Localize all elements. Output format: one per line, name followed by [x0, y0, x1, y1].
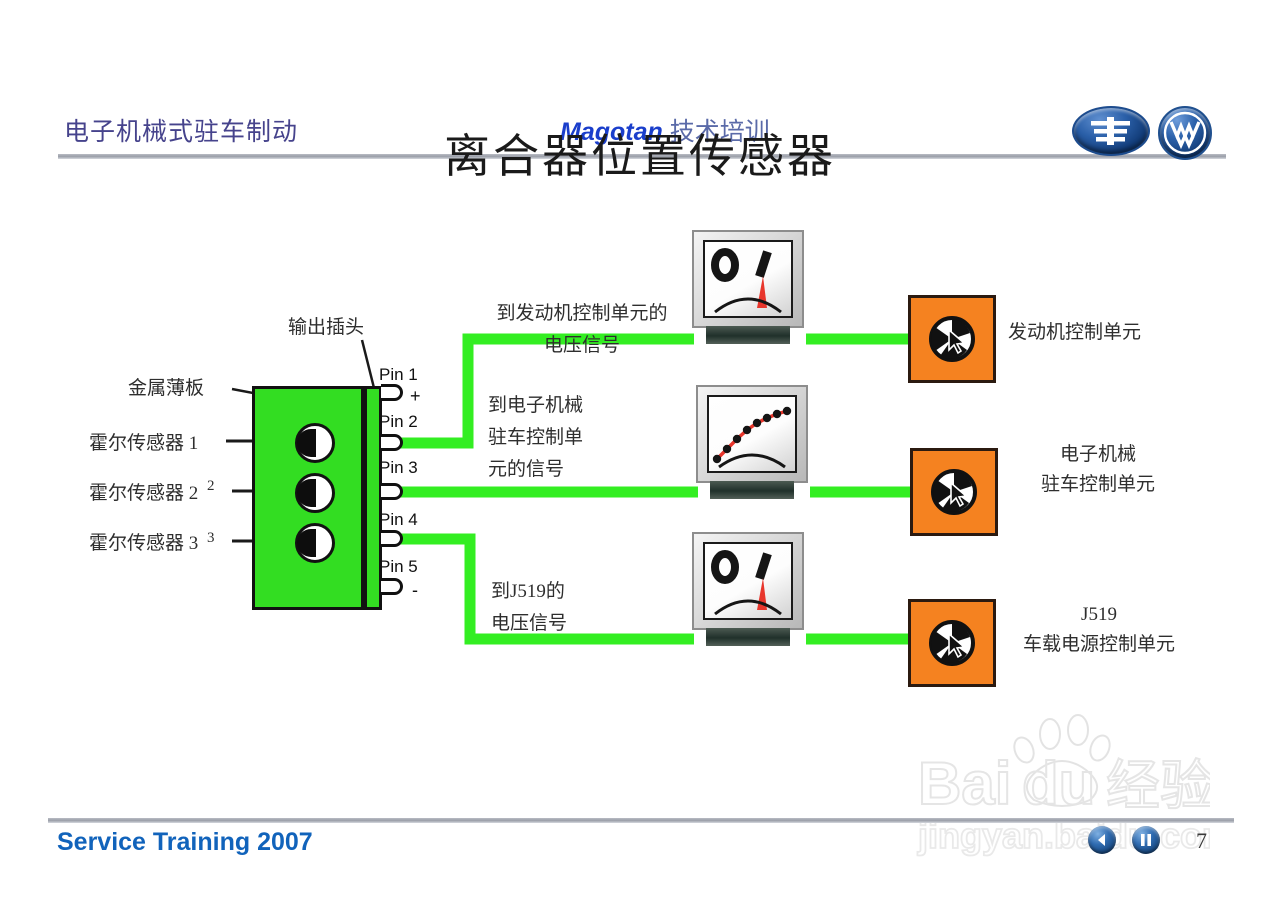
- slide-canvas: 电子机械式驻车制动 Magotan技术培训: [0, 0, 1280, 906]
- j519-control-unit-box: [908, 599, 996, 687]
- j519-control-unit-label-line-1: J519: [1006, 600, 1192, 630]
- hall-sensor-1-dot: [295, 423, 335, 463]
- signal-caption-2-line-2: 驻车控制单: [488, 422, 583, 454]
- pin-5-connector: [381, 578, 403, 595]
- meter-screen: [703, 240, 793, 318]
- signal-caption-1-line-2: 电压信号: [492, 330, 672, 362]
- signal-caption-3-line-2: 电压信号: [491, 608, 567, 640]
- pin-1-label: Pin 1: [379, 365, 418, 385]
- engine-control-unit-box: [908, 295, 996, 383]
- pin-1-sign: +: [410, 386, 421, 407]
- signal-caption-3: 到J519的 电压信号: [491, 576, 567, 640]
- pin-4-connector: [381, 530, 403, 547]
- control-unit-icon: [927, 618, 977, 668]
- nav-prev-button[interactable]: [1088, 826, 1116, 854]
- meter-screen: [707, 395, 797, 473]
- hall-sensor-3-label: 霍尔传感器 3: [89, 528, 198, 555]
- engine-control-unit-label: 发动机控制单元: [1008, 318, 1141, 348]
- meter-needle-zero-1: [692, 230, 804, 334]
- watermark-nav-buttons[interactable]: [1088, 826, 1162, 856]
- meter-foot: [706, 326, 790, 344]
- signal-caption-1-line-1: 到发动机控制单元的: [492, 298, 672, 330]
- pin-1-connector: [381, 384, 403, 401]
- footer-title: Service Training 2007: [57, 828, 313, 857]
- hall-sensor-2-number: 2: [207, 478, 215, 495]
- hall-sensor-2-label: 霍尔传感器 2: [89, 478, 198, 505]
- control-unit-icon: [927, 314, 977, 364]
- pin-3-connector: [381, 483, 403, 500]
- meter-needle-zero-2: [692, 532, 804, 636]
- epb-control-unit-label-line-2: 驻车控制单元: [1010, 470, 1186, 500]
- signal-caption-2-line-1: 到电子机械: [488, 390, 583, 422]
- metal-plate-label: 金属薄板: [128, 373, 204, 400]
- pin-2-connector: [381, 434, 403, 451]
- pin-5-sign: -: [412, 580, 418, 601]
- clutch-position-sensor-diagram: Pin 1 + Pin 2 Pin 3 Pin 4 Pin 5 - 输出插头 金…: [0, 0, 1280, 906]
- epb-control-unit-box: [910, 448, 998, 536]
- pin-5-label: Pin 5: [379, 557, 418, 577]
- control-unit-icon: [929, 467, 979, 517]
- epb-control-unit-label: 电子机械 驻车控制单元: [1010, 440, 1186, 500]
- hall-sensor-3-number: 3: [207, 530, 215, 547]
- nav-pause-button[interactable]: [1132, 826, 1160, 854]
- signal-caption-1: 到发动机控制单元的 电压信号: [492, 298, 672, 362]
- meter-rising-curve: [696, 385, 808, 489]
- meter-screen: [703, 542, 793, 620]
- meter-foot: [710, 481, 794, 499]
- pin-3-label: Pin 3: [379, 458, 418, 478]
- output-plug-label: 输出插头: [288, 312, 364, 339]
- hall-sensor-3-dot: [295, 523, 335, 563]
- meter-foot: [706, 628, 790, 646]
- page-number: 7: [1196, 828, 1207, 854]
- hall-sensor-2-dot: [295, 473, 335, 513]
- hall-sensor-1-label: 霍尔传感器 1: [89, 428, 198, 455]
- epb-control-unit-label-line-1: 电子机械: [1010, 440, 1186, 470]
- pin-4-label: Pin 4: [379, 510, 418, 530]
- footer-divider-rule: [48, 818, 1234, 823]
- pin-2-label: Pin 2: [379, 412, 418, 432]
- engine-control-unit-label-line-1: 发动机控制单元: [1008, 318, 1141, 348]
- signal-caption-2: 到电子机械 驻车控制单 元的信号: [488, 390, 583, 486]
- signal-caption-3-line-1: 到J519的: [491, 576, 567, 608]
- signal-caption-2-line-3: 元的信号: [488, 454, 583, 486]
- j519-control-unit-label-line-2: 车载电源控制单元: [1006, 630, 1192, 660]
- j519-control-unit-label: J519 车载电源控制单元: [1006, 600, 1192, 660]
